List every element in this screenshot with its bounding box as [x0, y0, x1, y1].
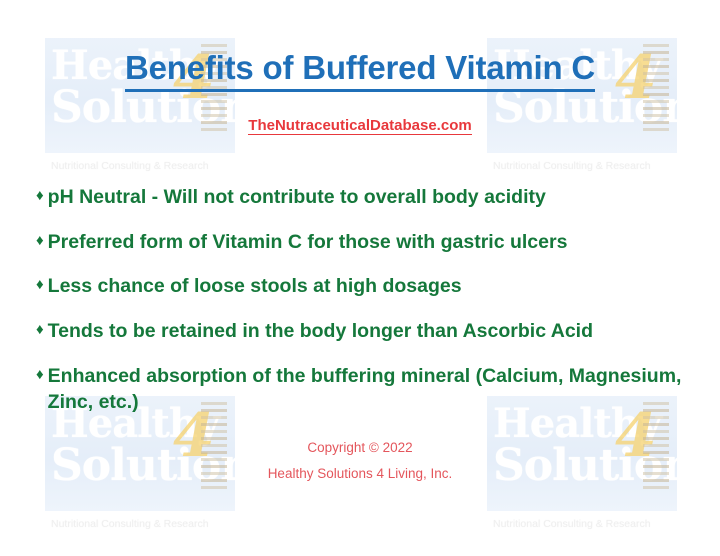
diamond-bullet-icon: ♦	[36, 230, 44, 252]
list-item-label: pH Neutral - Will not contribute to over…	[48, 185, 696, 211]
page-title: Benefits of Buffered Vitamin C	[0, 49, 720, 87]
slide-content: Benefits of Buffered Vitamin C TheNutrac…	[0, 0, 720, 556]
diamond-bullet-icon: ♦	[36, 185, 44, 207]
list-item: ♦ pH Neutral - Will not contribute to ov…	[36, 185, 696, 211]
list-item-label: Tends to be retained in the body longer …	[48, 319, 696, 345]
page-title-text: Benefits of Buffered Vitamin C	[125, 49, 595, 92]
benefits-list: ♦ pH Neutral - Will not contribute to ov…	[36, 185, 696, 434]
footer: Copyright © 2022 Healthy Solutions 4 Liv…	[0, 435, 720, 488]
company-name: Healthy Solutions 4 Living, Inc.	[0, 461, 720, 487]
copyright-text: Copyright © 2022	[0, 435, 720, 461]
slide-canvas: Healthy Solutions 4 Nutritional Consulti…	[0, 0, 720, 556]
list-item: ♦ Enhanced absorption of the buffering m…	[36, 364, 696, 415]
list-item: ♦ Preferred form of Vitamin C for those …	[36, 230, 696, 256]
diamond-bullet-icon: ♦	[36, 364, 44, 386]
list-item-label: Preferred form of Vitamin C for those wi…	[48, 230, 696, 256]
list-item: ♦ Less chance of loose stools at high do…	[36, 274, 696, 300]
list-item-label: Less chance of loose stools at high dosa…	[48, 274, 696, 300]
list-item-label: Enhanced absorption of the buffering min…	[48, 364, 696, 415]
website-link[interactable]: TheNutraceuticalDatabase.com	[0, 117, 720, 134]
list-item: ♦ Tends to be retained in the body longe…	[36, 319, 696, 345]
diamond-bullet-icon: ♦	[36, 319, 44, 341]
diamond-bullet-icon: ♦	[36, 274, 44, 296]
website-link-text: TheNutraceuticalDatabase.com	[248, 117, 471, 135]
